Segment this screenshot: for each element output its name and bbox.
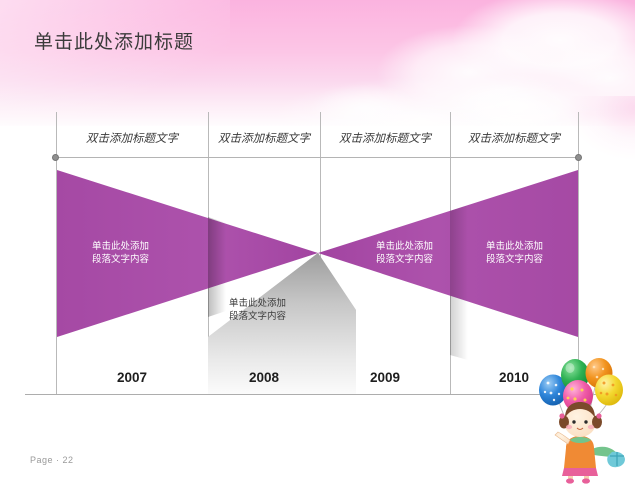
purple-right-fold-shade <box>450 205 468 360</box>
paragraph-line-1: 单击此处添加 <box>376 240 433 253</box>
paragraph-line-2: 段落文字内容 <box>486 253 543 266</box>
year-label-2008[interactable]: 2008 <box>208 369 320 387</box>
shoe-left <box>566 478 574 483</box>
purple-left-fold-shade <box>208 217 226 317</box>
paragraph-line-2: 段落文字内容 <box>376 253 433 266</box>
column-header-1[interactable]: 双击添加标题文字 <box>56 126 208 152</box>
paragraph-text-2009[interactable]: 单击此处添加 段落文字内容 <box>376 240 433 266</box>
paragraph-line-2: 段落文字内容 <box>229 310 286 323</box>
column-header-2[interactable]: 双击添加标题文字 <box>208 126 320 152</box>
year-label-2007[interactable]: 2007 <box>56 369 208 387</box>
year-label-2009[interactable]: 2009 <box>320 369 450 387</box>
paragraph-line-1: 单击此处添加 <box>92 240 149 253</box>
balloon-yellow <box>595 375 623 406</box>
paragraph-line-1: 单击此处添加 <box>486 240 543 253</box>
shoe-right <box>582 478 590 483</box>
paragraph-text-2008[interactable]: 单击此处添加 段落文字内容 <box>229 297 286 323</box>
paragraph-line-1: 单击此处添加 <box>229 297 286 310</box>
girl-figure <box>555 402 625 484</box>
column-header-3[interactable]: 双击添加标题文字 <box>320 126 450 152</box>
slide-canvas: 单击此处添加标题 <box>0 0 635 484</box>
paragraph-text-2007[interactable]: 单击此处添加 段落文字内容 <box>92 240 149 266</box>
page-footer: Page · 22 <box>30 455 74 465</box>
column-header-4[interactable]: 双击添加标题文字 <box>450 126 578 152</box>
girl-with-balloons-illustration <box>520 352 635 484</box>
paragraph-text-2010[interactable]: 单击此处添加 段落文字内容 <box>486 240 543 266</box>
paragraph-line-2: 段落文字内容 <box>92 253 149 266</box>
